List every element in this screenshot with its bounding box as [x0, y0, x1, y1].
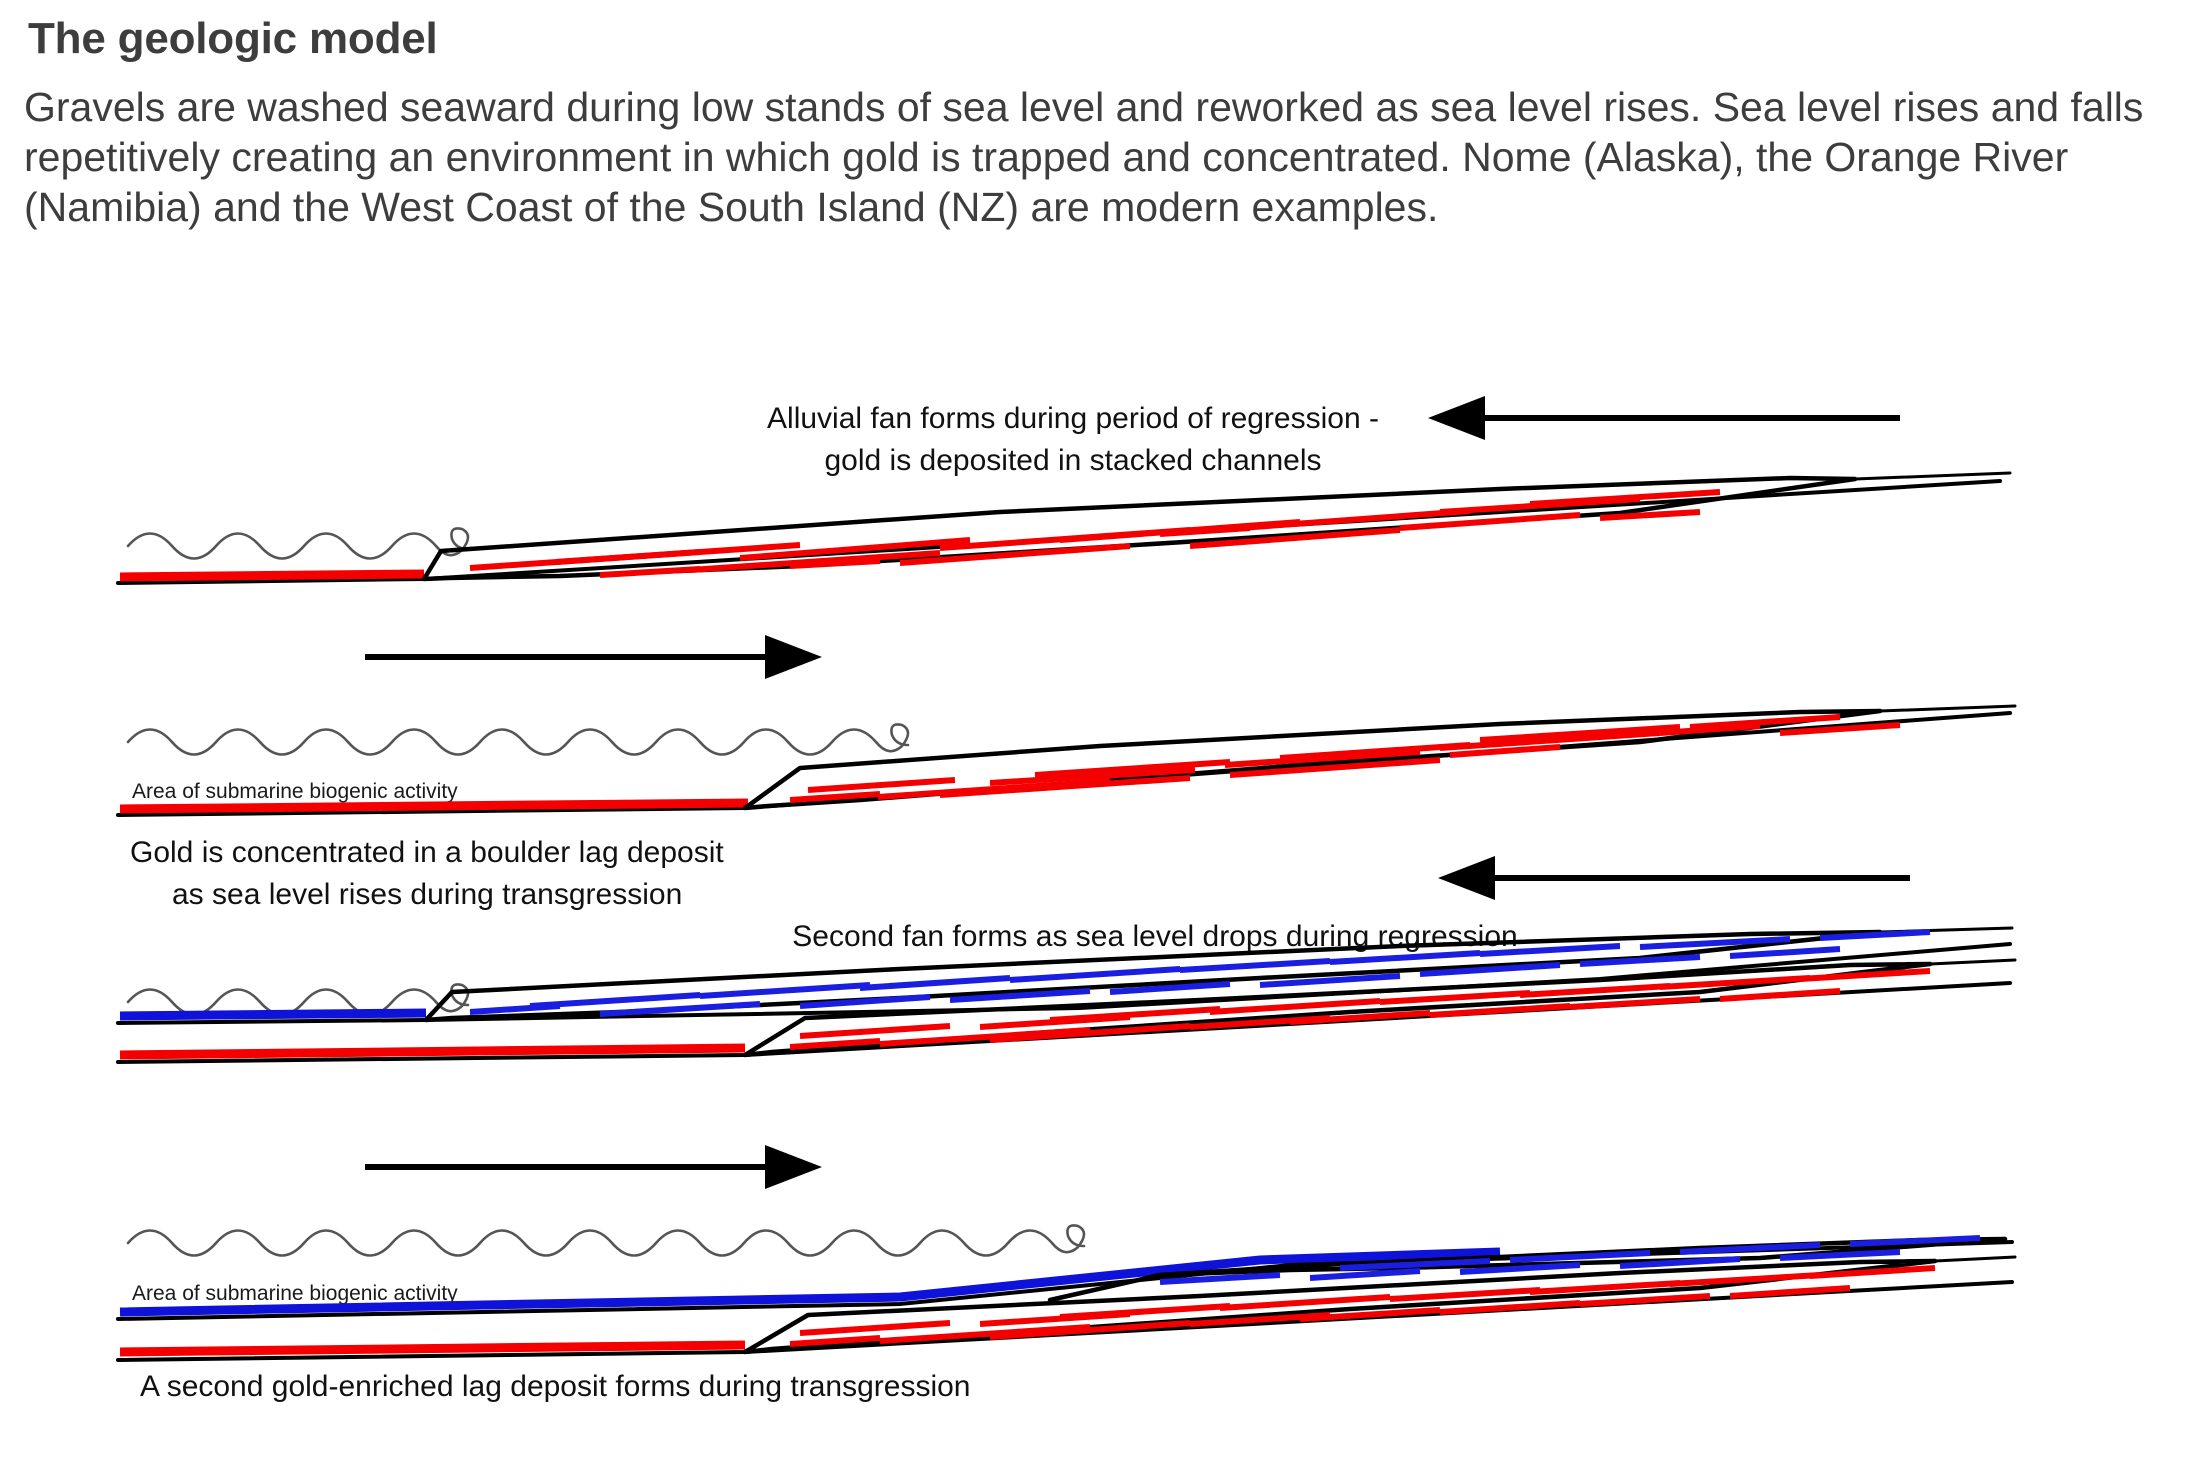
gold-lag-deposit-3-blue	[120, 1013, 426, 1016]
panel-4-caption: A second gold-enriched lag deposit forms…	[140, 1370, 970, 1403]
gold-lag-deposit-4-red	[120, 1345, 745, 1352]
fan-top-continuation-4-red	[1935, 1257, 2015, 1261]
gold-lag-deposit-1	[120, 574, 424, 577]
panel-4-second-transgression: Area of submarine biogenic activity	[118, 1225, 2015, 1403]
gold-lag-deposit-3-red	[120, 1048, 745, 1055]
transgression-arrow-2	[365, 1145, 822, 1189]
fan-top-continuation-2	[1880, 706, 2015, 711]
regression-arrow-2	[1438, 856, 1910, 900]
panel-1-caption-line-1: Alluvial fan forms during period of regr…	[767, 402, 1379, 435]
fan-top-continuation-3-red	[1930, 960, 2015, 964]
panel-2-caption-line-2: as sea level rises during transgression	[172, 878, 682, 911]
sea-surface-wave-1	[128, 528, 468, 558]
panel-1-regression: Alluvial fan forms during period of regr…	[118, 396, 2010, 583]
panel-2-caption-line-1: Gold is concentrated in a boulder lag de…	[130, 836, 724, 869]
fan-top-continuation-1	[1855, 473, 2010, 479]
transgression-arrow-1	[365, 635, 822, 679]
panel-3-second-regression: Second fan forms as sea level drops duri…	[118, 920, 2015, 1062]
panel-1-caption-line-2: gold is deposited in stacked channels	[825, 444, 1322, 477]
panel-2-submarine-biogenic-label: Area of submarine biogenic activity	[132, 780, 458, 803]
sea-surface-wave-4	[128, 1225, 1084, 1255]
panel-4-submarine-biogenic-label: Area of submarine biogenic activity	[132, 1282, 458, 1305]
basement-line-1	[118, 481, 2000, 583]
gold-boulder-lag-deposit-2	[120, 803, 748, 809]
sea-surface-wave-2	[128, 724, 908, 754]
regression-arrow-1	[1428, 396, 1900, 440]
geologic-model-diagram: Alluvial fan forms during period of regr…	[0, 0, 2200, 1458]
panel-3-caption: Second fan forms as sea level drops duri…	[792, 920, 1517, 953]
